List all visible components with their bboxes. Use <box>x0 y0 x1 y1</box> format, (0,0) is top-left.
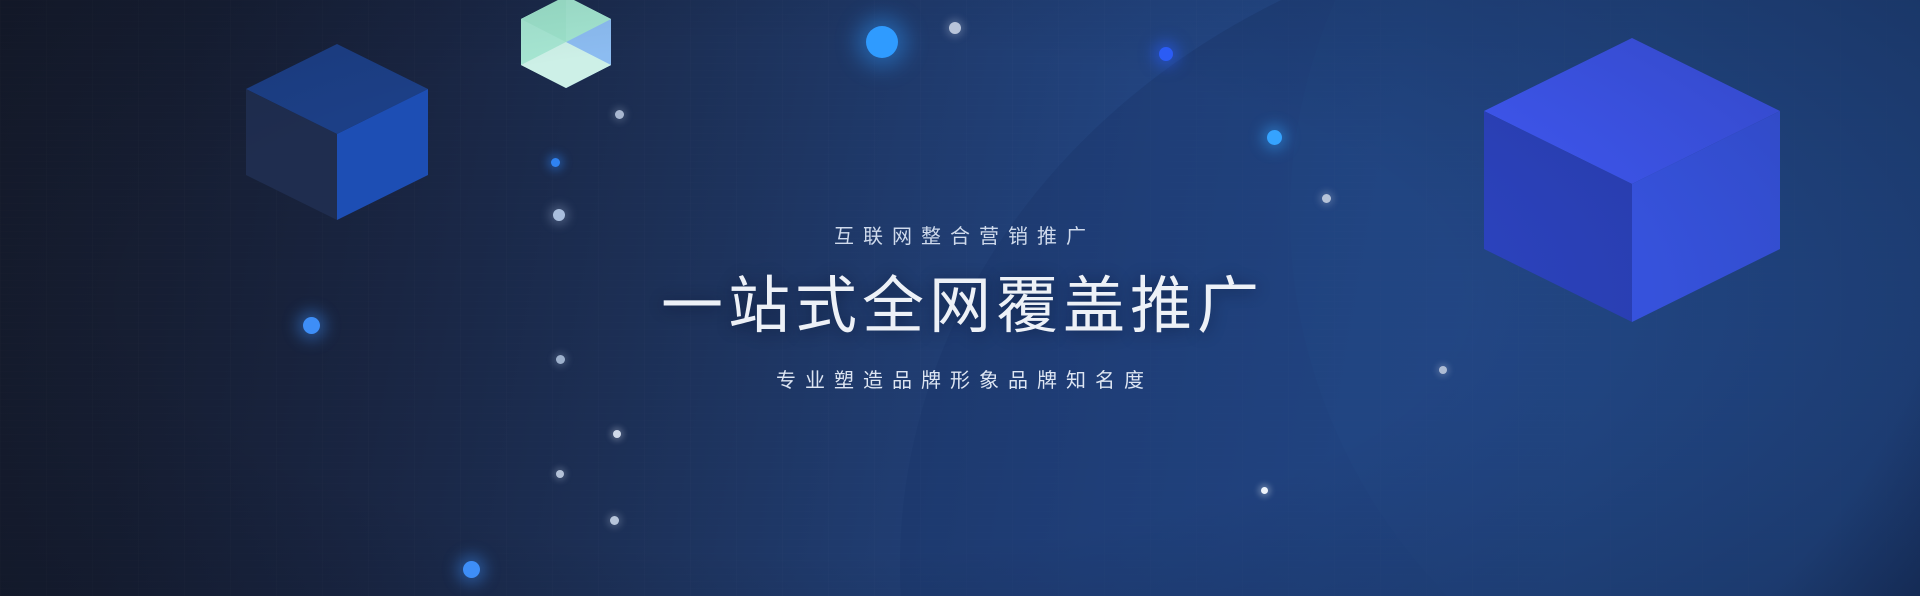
particle-glow <box>551 158 560 167</box>
particle-glow <box>866 26 898 58</box>
cube-mint-accent-icon <box>521 0 611 88</box>
particle-glow <box>1261 487 1268 494</box>
banner-subline: 专业塑造品牌形象品牌知名度 <box>0 366 1920 396</box>
banner-tagline: 互联网整合营销推广 <box>0 222 1920 252</box>
particle-glow <box>615 110 624 119</box>
particle-glow <box>1267 130 1282 145</box>
particle-glow <box>949 22 961 34</box>
particle-glow <box>463 561 480 578</box>
banner-headline: 一站式全网覆盖推广 <box>0 264 1920 350</box>
banner-copy: 互联网整合营销推广 一站式全网覆盖推广 专业塑造品牌形象品牌知名度 <box>0 222 1920 396</box>
particle-glow <box>553 209 565 221</box>
cube-dark-blue-icon <box>246 44 428 220</box>
promo-banner: 互联网整合营销推广 一站式全网覆盖推广 专业塑造品牌形象品牌知名度 <box>0 0 1920 596</box>
particle-glow <box>610 516 619 525</box>
particle-glow <box>1322 194 1331 203</box>
particle-glow <box>556 470 564 478</box>
particle-glow <box>1159 47 1173 61</box>
particle-glow <box>613 430 621 438</box>
